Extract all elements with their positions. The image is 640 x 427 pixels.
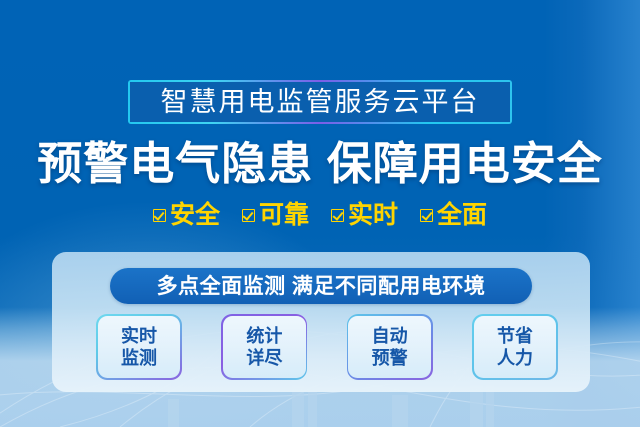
feature-card-inner: 节省 人力	[474, 316, 557, 379]
checkbox-checked-icon	[242, 209, 255, 222]
checkbox-checked-icon	[420, 209, 433, 222]
feature-card-line1: 节省	[497, 326, 533, 346]
feature-card-line2: 人力	[497, 348, 533, 368]
subheadline-text: 多点全面监测 满足不同配用电环境	[157, 276, 486, 297]
checklist-label: 实时	[348, 203, 398, 228]
checklist-label: 全面	[437, 203, 487, 228]
headline: 预警电气隐患 保障用电安全	[0, 135, 640, 191]
checkbox-checked-icon	[331, 209, 344, 222]
platform-title-chip: 智慧用电监管服务云平台	[128, 80, 512, 124]
feature-card-list: 实时 监测 统计 详尽 自动 预警 节省 人力	[96, 314, 558, 382]
feature-card-auto-alert[interactable]: 自动 预警	[347, 314, 433, 380]
subheadline-pill: 多点全面监测 满足不同配用电环境	[110, 268, 532, 304]
checklist-item-realtime: 实时	[331, 203, 398, 228]
feature-card-inner: 自动 预警	[348, 316, 431, 379]
feature-card-line1: 自动	[372, 326, 408, 346]
checklist-item-safety: 安全	[153, 203, 220, 228]
checklist-item-comprehensive: 全面	[420, 203, 487, 228]
platform-title-chip-inner: 智慧用电监管服务云平台	[130, 82, 510, 122]
feature-card-line2: 预警	[372, 348, 408, 368]
feature-card-line1: 实时	[121, 326, 157, 346]
feature-card-detailed-statistics[interactable]: 统计 详尽	[221, 314, 307, 380]
feature-card-line2: 详尽	[246, 348, 282, 368]
checkbox-checked-icon	[153, 209, 166, 222]
feature-card-line1: 统计	[246, 326, 282, 346]
checklist-label: 安全	[170, 203, 220, 228]
headline-text: 预警电气隐患 保障用电安全	[37, 141, 603, 186]
checklist-item-reliable: 可靠	[242, 203, 309, 228]
platform-title-text: 智慧用电监管服务云平台	[161, 89, 480, 116]
feature-card-inner: 统计 详尽	[223, 316, 306, 379]
feature-card-save-manpower[interactable]: 节省 人力	[472, 314, 558, 380]
feature-card-inner: 实时 监测	[98, 316, 181, 379]
feature-card-realtime-monitoring[interactable]: 实时 监测	[96, 314, 182, 380]
feature-card-line2: 监测	[121, 348, 157, 368]
checklist-label: 可靠	[259, 203, 309, 228]
feature-checklist: 安全 可靠 实时 全面	[0, 199, 640, 231]
promo-banner: 智慧用电监管服务云平台 预警电气隐患 保障用电安全 安全 可靠 实时 全面 多点…	[0, 0, 640, 427]
